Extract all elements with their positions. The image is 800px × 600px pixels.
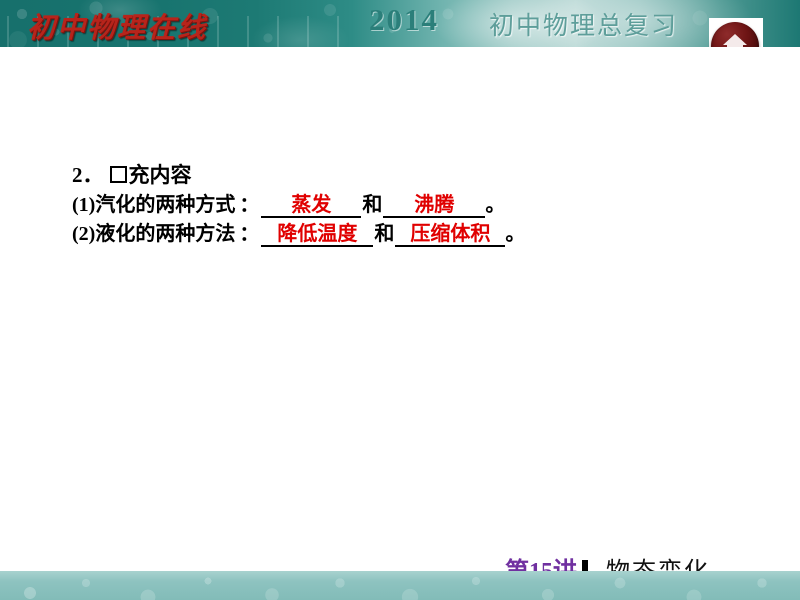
header-title: 初中物理总复习 — [489, 6, 678, 42]
item-2-marker: (2) — [72, 223, 95, 245]
item-1-answer-2[interactable]: 沸腾 — [383, 195, 485, 218]
section-heading-text: 充内容 — [129, 163, 192, 187]
item-2-terminator: 。 — [505, 223, 525, 245]
item-1-terminator: 。 — [485, 194, 505, 216]
footer-strip-pattern — [0, 571, 800, 600]
item-1-conjunction: 和 — [361, 194, 383, 216]
item-2-colon: ： — [235, 223, 261, 245]
slide-content: 2．充内容 (1)汽化的两种方式：蒸发和沸腾。 (2)液化的两种方法：降低温度和… — [0, 47, 800, 571]
item-1-colon: ： — [235, 194, 261, 216]
item-1-answer-1[interactable]: 蒸发 — [261, 195, 361, 218]
item-2-conjunction: 和 — [373, 223, 395, 245]
missing-glyph-box — [110, 166, 127, 183]
header-banner: 初中物理在线 2014 初中物理总复习 — [0, 0, 800, 47]
item-2-answer-2[interactable]: 压缩体积 — [395, 224, 505, 247]
item-1-marker: (1) — [72, 194, 95, 216]
fill-in-item-1: (1)汽化的两种方式：蒸发和沸腾。 — [72, 195, 525, 218]
item-2-answer-1[interactable]: 降低温度 — [261, 224, 373, 247]
fill-in-item-2: (2)液化的两种方法：降低温度和压缩体积。 — [72, 224, 525, 247]
section-number: 2． — [72, 163, 104, 187]
section-heading: 2．充内容 — [72, 165, 525, 186]
site-logo: 初中物理在线 — [27, 6, 207, 46]
item-2-prompt: 液化的两种方法 — [95, 223, 235, 245]
item-1-prompt: 汽化的两种方式 — [95, 194, 235, 216]
slide-canvas: 初中物理在线 2014 初中物理总复习 2．充内容 (1)汽化的两种方式：蒸发和… — [0, 0, 800, 600]
footer-decoration-strip — [0, 571, 800, 600]
year-label: 2014 — [369, 2, 439, 38]
body-text-block: 2．充内容 (1)汽化的两种方式：蒸发和沸腾。 (2)液化的两种方法：降低温度和… — [72, 165, 525, 253]
